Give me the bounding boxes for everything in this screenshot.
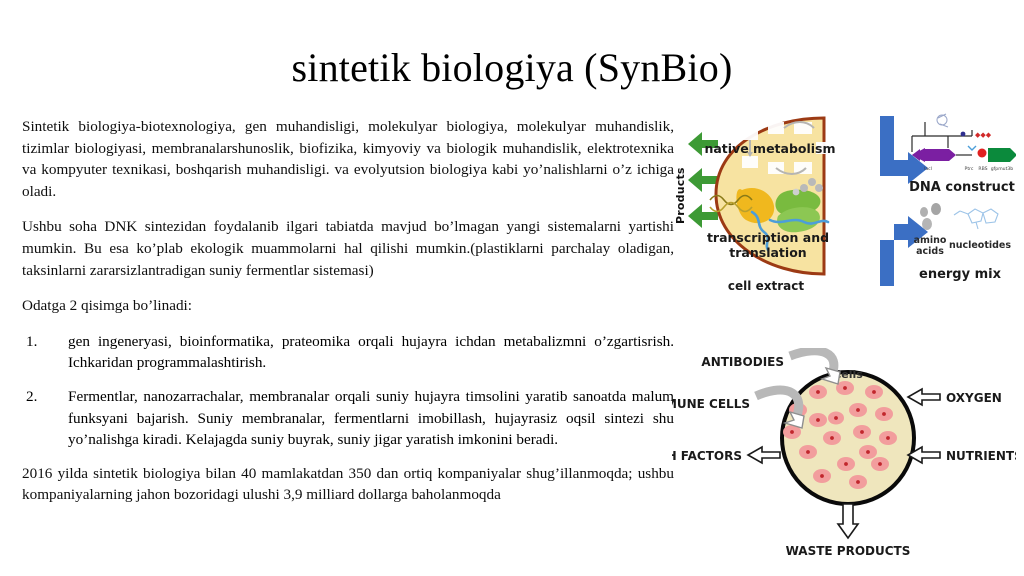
dna-part-label-lacl: lacl (924, 166, 932, 172)
list-item: 2. Fermentlar, nanozarrachalar, membrana… (22, 386, 674, 451)
list-item-number: 1. (22, 331, 68, 374)
products-label: Products (674, 167, 687, 224)
slide-canvas: sintetik biologiya (SynBio) Sintetik bio… (0, 0, 1024, 576)
waste-products-label: WASTE PRODUCTS (786, 544, 911, 558)
dna-construct-caption: DNA construct (909, 180, 1015, 195)
native-metabolism-label: native metabolism (704, 141, 835, 156)
amino-acids-label-line1: amino (914, 235, 947, 246)
figure-cell-exchange: Cells ANTIBODIES IMMUNE CELLS GROWTH FAC… (672, 348, 1016, 563)
growth-factors-label: GROWTH FACTORS (672, 449, 742, 463)
immune-cells-label: IMMUNE CELLS (672, 397, 750, 411)
cell-extract-caption: cell extract (728, 279, 804, 293)
list-item: 1. gen ingeneryasi, bioinformatika, prat… (22, 331, 674, 374)
body-text-column: Sintetik biologiya-biotexnologiya, gen m… (22, 116, 674, 506)
antibodies-label: ANTIBODIES (701, 355, 784, 369)
amino-acids-label-line2: acids (916, 246, 944, 257)
page-title: sintetik biologiya (SynBio) (0, 44, 1024, 92)
dna-part-label-rbs: RBS (978, 166, 987, 172)
transcription-translation-label-line1: transcription and (707, 230, 829, 245)
list-item-text: Fermentlar, nanozarrachalar, membranalar… (68, 386, 674, 451)
dna-part-label-ptrc: Ptrc (965, 166, 974, 172)
svg-text:◆◆◆: ◆◆◆ (975, 131, 992, 139)
list-item-text: gen ingeneryasi, bioinformatika, prateom… (68, 331, 674, 374)
oxygen-arrow (908, 389, 940, 405)
energy-mix-caption: energy mix (919, 267, 1002, 282)
transcription-translation-label-line2: translation (729, 245, 806, 260)
nucleotides-icon (954, 209, 998, 229)
dna-part-label-gfp: gfpmut3b (991, 166, 1014, 172)
immune-cells-arrow (756, 390, 804, 428)
dna-construct-diagram: ◆◆◆ lacl Ptrc RBS gfpmut3b (912, 114, 1016, 172)
paragraph-dna-synthesis: Ushbu soha DNK sintezidan foydalanib ilg… (22, 216, 674, 281)
waste-products-arrow (838, 504, 858, 538)
figure-cell-free-system: Products native metabolism (672, 108, 1016, 298)
paragraph-market-stats: 2016 yilda sintetik biologiya bilan 40 m… (22, 463, 674, 506)
list-item-number: 2. (22, 386, 68, 451)
nucleotides-label: nucleotides (949, 240, 1011, 251)
nutrients-label: NUTRIENTS (946, 449, 1016, 463)
amino-acids-icon (920, 203, 941, 230)
paragraph-two-parts-lead: Odatga 2 qisimga bo’linadi: (22, 295, 674, 317)
input-arrow-dna (880, 116, 928, 184)
paragraph-intro: Sintetik biologiya-biotexnologiya, gen m… (22, 116, 674, 202)
oxygen-label: OXYGEN (946, 391, 1002, 405)
growth-factors-arrow (748, 447, 780, 463)
